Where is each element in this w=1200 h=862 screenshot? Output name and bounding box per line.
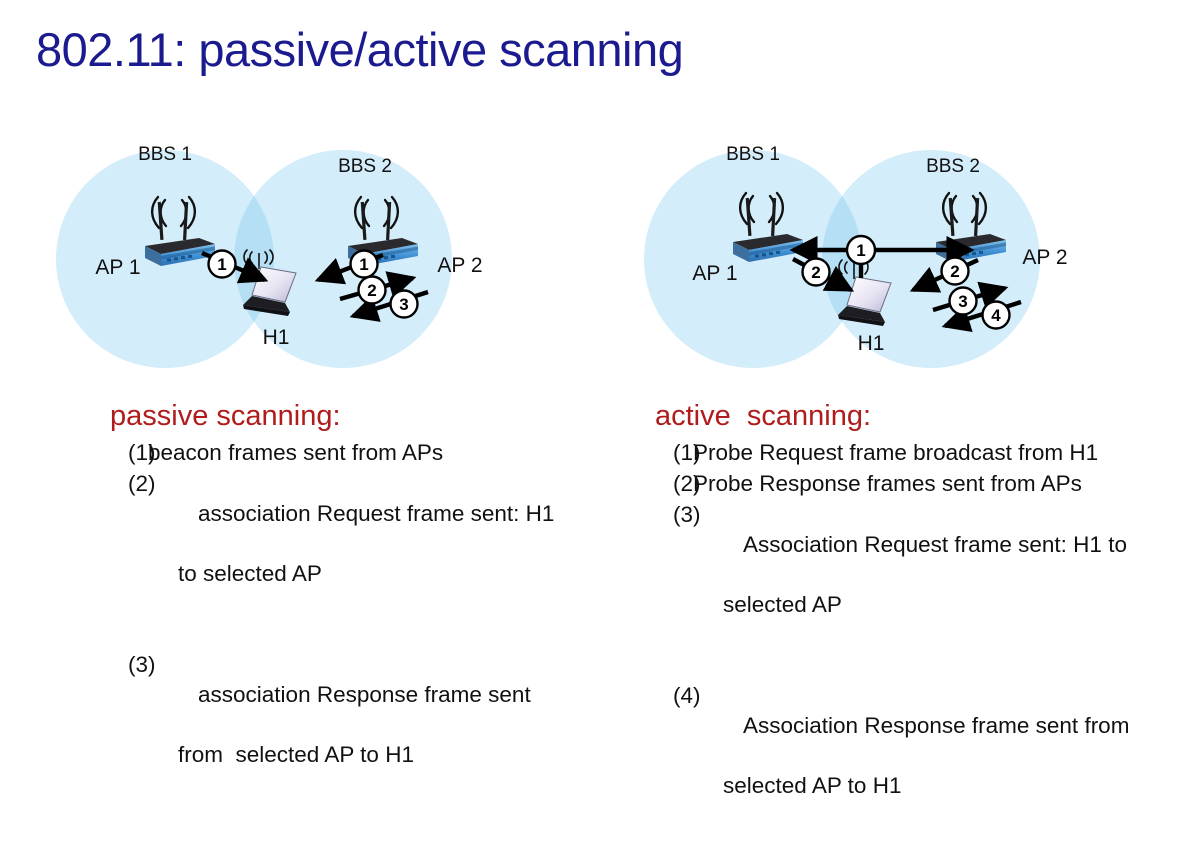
list-item: (4) Association Response frame sent from… [655,681,1185,861]
list-item: (1) Probe Request frame broadcast from H… [655,438,1185,468]
step-text: Association Request frame sent: H1 to se… [693,500,1185,680]
passive-scanning-heading: passive scanning: [110,398,610,434]
list-item: (2) association Request frame sent: H1 t… [110,469,610,649]
step-number: (3) [110,650,148,680]
list-item: (1) beacon frames sent from APs [110,438,610,468]
ap1-label: AP 1 [95,256,140,279]
list-item: (3) association Response frame sent from… [110,650,610,830]
ap2-label: AP 2 [437,254,482,277]
step-number: (3) [655,500,693,530]
step-text-line1: Association Response frame sent from [743,713,1129,738]
bss2-label: BBS 2 [926,156,980,177]
passive-scanning-diagram: BBS 1 BBS 2 AP 1 [45,132,545,382]
step-number: (1) [110,438,148,468]
active-scanning-diagram: BBS 1 BBS 2 AP 1 [633,132,1133,382]
step-text-line1: association Request frame sent: H1 [198,501,554,526]
badge-3: 3 [950,288,977,315]
step-number: (1) [655,438,693,468]
step-text: Probe Request frame broadcast from H1 [693,438,1185,468]
badge-1-broadcast: 1 [847,236,875,264]
step-number: (4) [655,681,693,711]
step-text-line1: association Response frame sent [198,682,531,707]
active-scanning-block: active scanning: (1) Probe Request frame… [655,398,1185,862]
step-text-line2: from selected AP to H1 [148,740,610,770]
svg-text:1: 1 [856,241,865,260]
step-text-line1: Association Request frame sent: H1 to [743,532,1127,557]
ap1-label: AP 1 [692,262,737,285]
page-title: 802.11: passive/active scanning [36,20,683,80]
badge-1-ap1: 1 [209,251,236,278]
h1-label: H1 [858,332,885,355]
list-item: (3) Association Request frame sent: H1 t… [655,500,1185,680]
active-scanning-heading: active scanning: [655,398,1185,434]
badge-3: 3 [391,291,418,318]
svg-text:1: 1 [359,255,368,274]
passive-scanning-block: passive scanning: (1) beacon frames sent… [110,398,610,831]
step-text: association Response frame sent from sel… [148,650,610,830]
bss1-label: BBS 1 [726,144,780,165]
step-number: (2) [110,469,148,499]
svg-text:4: 4 [991,306,1001,325]
step-text: association Request frame sent: H1 to se… [148,469,610,649]
passive-steps-list: (1) beacon frames sent from APs (2) asso… [110,438,610,830]
svg-text:2: 2 [950,262,959,281]
step-text-line2: selected AP to H1 [693,771,1185,801]
svg-text:2: 2 [811,263,820,282]
ap2-label: AP 2 [1022,246,1067,269]
list-item: (2) Probe Response frames sent from APs [655,469,1185,499]
step-text: beacon frames sent from APs [148,438,610,468]
svg-text:2: 2 [367,281,376,300]
step-text-line2: selected AP [693,590,1185,620]
badge-2-ap2: 2 [942,258,969,285]
svg-text:3: 3 [958,292,967,311]
step-text-line2: to selected AP [148,559,610,589]
active-steps-list: (1) Probe Request frame broadcast from H… [655,438,1185,861]
bss-coverage-circles [644,150,1040,368]
step-text: Probe Response frames sent from APs [693,469,1185,499]
badge-2: 2 [359,277,386,304]
bss1-label: BBS 1 [138,144,192,165]
badge-2-ap1: 2 [803,259,830,286]
svg-text:1: 1 [217,255,226,274]
h1-label: H1 [263,326,290,349]
badge-1-ap2: 1 [351,251,378,278]
bss2-label: BBS 2 [338,156,392,177]
badge-4: 4 [983,302,1010,329]
step-number: (2) [655,469,693,499]
step-text: Association Response frame sent from sel… [693,681,1185,861]
svg-text:3: 3 [399,295,408,314]
